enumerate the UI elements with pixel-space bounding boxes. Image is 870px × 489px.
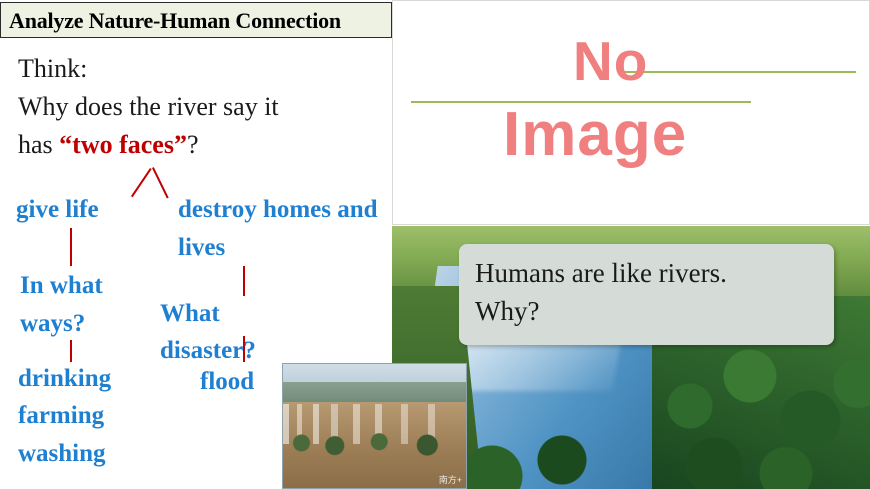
flood-trees-layer bbox=[283, 430, 467, 456]
mindmap-in-what-line-1: In what bbox=[20, 272, 103, 300]
connector-inwhat-to-drinking bbox=[70, 340, 72, 362]
slide-canvas: Analyze Nature-Human Connection Think: W… bbox=[0, 0, 870, 489]
connector-faces-to-givelife bbox=[131, 168, 152, 197]
mindmap-flood: flood bbox=[200, 368, 254, 396]
river-trees-right bbox=[642, 346, 870, 489]
flood-photo: 南方+ bbox=[282, 363, 467, 489]
think-label: Think: bbox=[18, 54, 87, 84]
slide-title-box: Analyze Nature-Human Connection bbox=[0, 2, 392, 38]
question-line-1: Why does the river say it bbox=[18, 92, 279, 122]
mindmap-washing: washing bbox=[18, 440, 106, 468]
placeholder-text-no: No bbox=[573, 29, 648, 93]
mindmap-what-line-1: What bbox=[160, 300, 220, 328]
question-line-2-prefix: has bbox=[18, 130, 59, 159]
mindmap-drinking: drinking bbox=[18, 365, 111, 393]
mindmap-destroy-line-1: destroy homes and bbox=[178, 196, 378, 224]
mindmap-give-life: give life bbox=[16, 196, 99, 224]
page-title: Analyze Nature-Human Connection bbox=[9, 8, 341, 34]
connector-givelife-to-inwhat bbox=[70, 228, 72, 266]
mindmap-farming: farming bbox=[18, 402, 104, 430]
mindmap-in-what-line-2: ways? bbox=[20, 310, 85, 338]
placeholder-rule-top bbox=[618, 71, 856, 73]
flood-hills-layer bbox=[283, 382, 467, 404]
mindmap-what-line-2: disaster? bbox=[160, 337, 256, 365]
callout-line-2: Why? bbox=[475, 296, 539, 327]
mindmap-destroy-line-2: lives bbox=[178, 234, 225, 262]
callout-box: Humans are like rivers. Why? bbox=[459, 244, 834, 345]
image-placeholder: No Image bbox=[392, 0, 870, 225]
question-line-2-suffix: ? bbox=[187, 130, 199, 159]
connector-faces-to-destroy bbox=[152, 167, 169, 198]
flood-photo-watermark: 南方+ bbox=[439, 473, 462, 486]
placeholder-text-image: Image bbox=[503, 99, 687, 170]
callout-line-1: Humans are like rivers. bbox=[475, 258, 727, 289]
connector-destroy-to-what bbox=[243, 266, 245, 296]
two-faces-highlight: “two faces” bbox=[59, 130, 187, 159]
question-line-2: has “two faces”? bbox=[18, 130, 199, 160]
